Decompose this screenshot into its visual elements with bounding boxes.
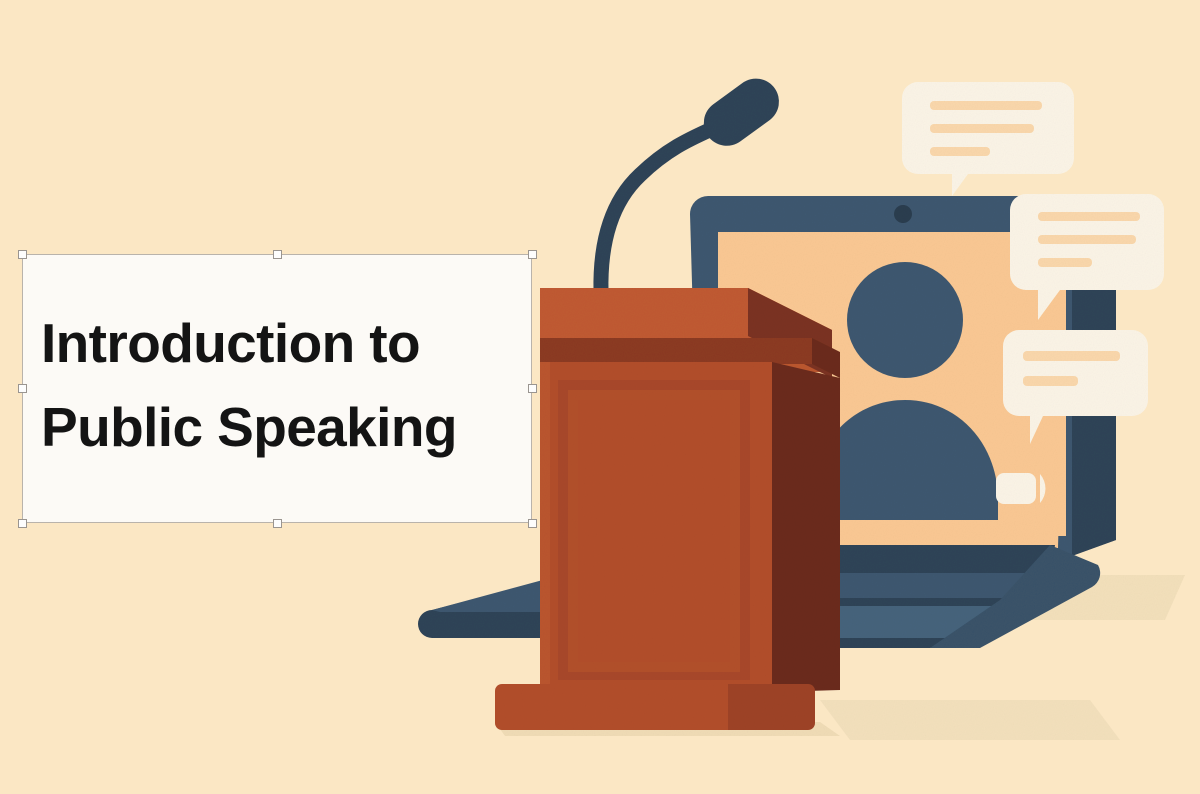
wooden-podium xyxy=(495,288,840,736)
title-text[interactable]: Introduction to Public Speaking xyxy=(41,301,519,469)
handle-top-center[interactable] xyxy=(273,250,282,259)
handle-top-right[interactable] xyxy=(528,250,537,259)
title-textbox[interactable]: Introduction to Public Speaking xyxy=(22,254,532,523)
podium-side xyxy=(772,362,840,692)
handle-top-left[interactable] xyxy=(18,250,27,259)
handle-bottom-right[interactable] xyxy=(528,519,537,528)
webcam-icon xyxy=(894,205,912,223)
handle-middle-right[interactable] xyxy=(528,384,537,393)
handle-bottom-left[interactable] xyxy=(18,519,27,528)
handle-bottom-center[interactable] xyxy=(273,519,282,528)
handle-middle-left[interactable] xyxy=(18,384,27,393)
podium-panel-inner xyxy=(578,400,730,662)
slide-canvas: Introduction to Public Speaking xyxy=(0,0,1200,794)
